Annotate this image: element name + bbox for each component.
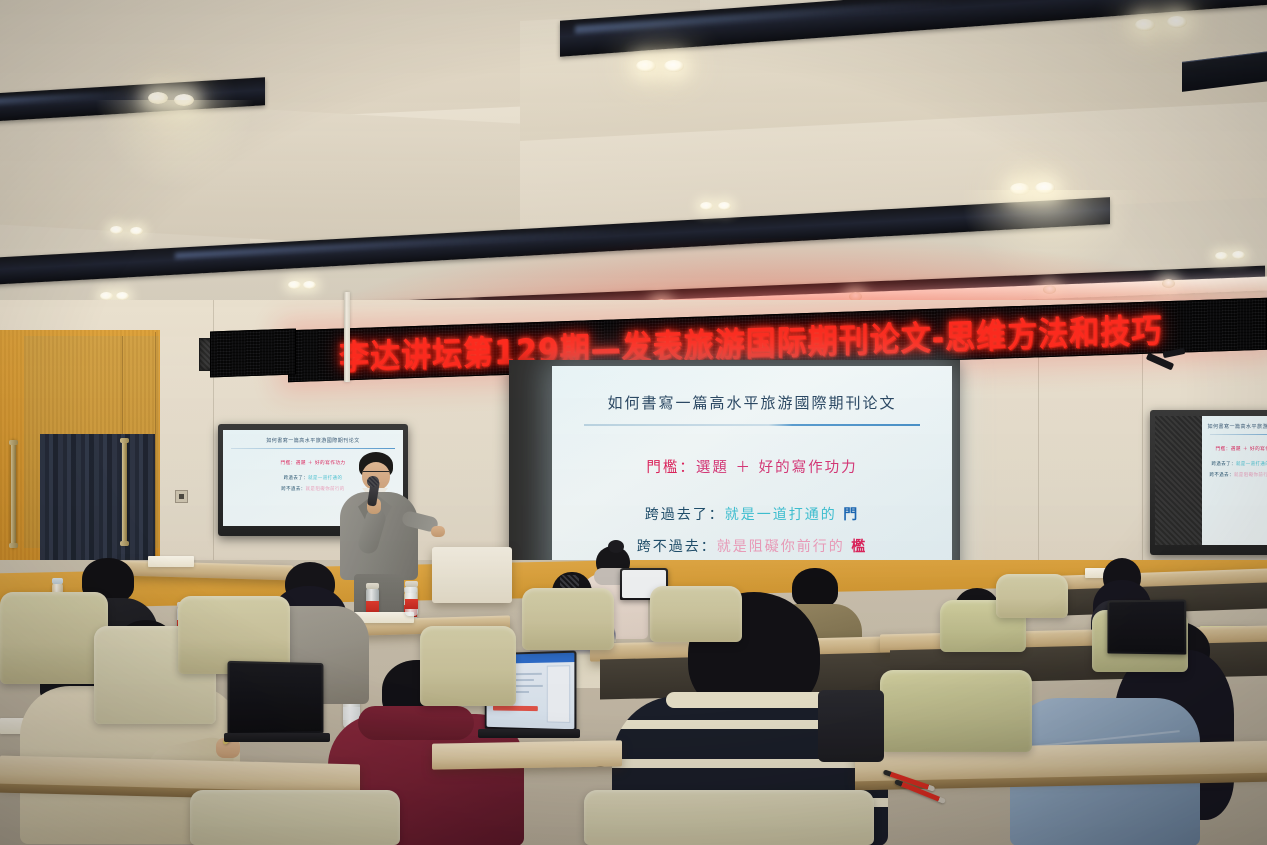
desk — [432, 740, 622, 769]
lecture-hall-photograph: 李达讲坛第129期—发表旅游国际期刊论文-思维方法和技巧 如何書寫一篇高水平旅游… — [0, 0, 1267, 845]
laptop-keyboard-base[interactable] — [478, 729, 580, 738]
ceiling-downlight — [636, 60, 656, 72]
chair[interactable] — [650, 586, 742, 642]
microphone-head — [367, 476, 379, 487]
laptop-screen-content — [1109, 601, 1184, 652]
chair[interactable] — [420, 626, 516, 706]
door-handle[interactable] — [11, 440, 16, 548]
right-wall-monitor[interactable]: 如何書寫一篇高水平旅游國際期刊论文 門檻：選題 ＋ 好的寫作功力 跨過去了：就是… — [1150, 410, 1267, 555]
chair[interactable] — [584, 790, 874, 845]
student-vest-collar — [666, 692, 842, 708]
monitor-line-1-label: 門檻： — [280, 461, 295, 466]
ceiling-downlight — [1010, 183, 1030, 195]
ceiling-downlight — [1035, 182, 1055, 194]
laptop-screen — [1109, 601, 1184, 652]
laptop-sidebar — [547, 665, 571, 723]
monitor-slide-line-2: 跨過去了：就是一道打通的 — [1202, 461, 1267, 467]
slide-line-2-label: 跨過去了： — [645, 507, 725, 523]
ceiling-downlight — [1135, 19, 1155, 31]
ceiling-downlight — [148, 92, 168, 104]
ceiling-downlight — [130, 227, 143, 235]
slide-line-2-highlight: 門 — [843, 507, 859, 523]
monitor-slide-content: 如何書寫一篇高水平旅游國際期刊论文 門檻：選題 ＋ 好的寫作功力 跨過去了：就是… — [1202, 416, 1267, 545]
slide-line-1-label: 門檻： — [646, 460, 696, 476]
chair[interactable] — [190, 790, 400, 845]
chair[interactable] — [522, 588, 614, 650]
student-hood — [358, 706, 474, 740]
ceiling-downlight — [664, 60, 684, 72]
monitor-line-2-body: 就是一道打通的 — [1236, 462, 1267, 467]
monitor-bezel-speaker — [1155, 416, 1202, 545]
monitor-line-3-label: 跨不過去： — [281, 487, 305, 492]
ceiling-downlight — [303, 281, 316, 289]
presenter-glasses — [363, 471, 389, 476]
slide-title: 如何書寫一篇高水平旅游國際期刊论文 — [578, 392, 926, 413]
ceiling — [0, 0, 1267, 340]
presenter-table — [432, 547, 512, 603]
ceiling-downlight — [1215, 252, 1228, 260]
ceiling-downlight — [1162, 279, 1175, 288]
presenter-hand — [431, 526, 445, 537]
laptop-keyboard-base[interactable] — [224, 733, 330, 742]
ceiling-downlight — [116, 292, 129, 300]
strip-reflection — [0, 90, 129, 104]
ceiling-downlight — [1167, 16, 1187, 28]
monitor-slide-line-1: 門檻：選題 ＋ 好的寫作功力 — [1202, 446, 1267, 452]
laptop-screen-content — [230, 663, 322, 733]
hair-clip — [560, 575, 579, 588]
monitor-line-2-label: 跨過去了： — [284, 476, 308, 481]
backpack — [818, 690, 884, 762]
chair[interactable] — [996, 574, 1068, 618]
door-handle[interactable] — [122, 438, 127, 546]
ceiling-downlight — [100, 292, 113, 300]
laptop-highlight-bar — [493, 705, 538, 711]
ceiling-downlight — [174, 94, 194, 106]
water-bottle — [405, 586, 418, 616]
led-banner-unlit-section — [210, 328, 296, 377]
monitor-line-1-body: 選題 ＋ 好的寫作功力 — [1231, 447, 1267, 452]
laptop[interactable] — [227, 661, 323, 735]
ceiling-downlight — [700, 202, 713, 210]
slide-line-1: 門檻：選題 ＋ 好的寫作功力 — [578, 456, 926, 477]
ceiling-support-pole — [344, 292, 350, 382]
monitor-line-2-label: 跨過去了： — [1212, 462, 1236, 467]
wall-switch-plate[interactable] — [175, 490, 188, 503]
monitor-slide-title: 如何書寫一篇高水平旅游國際期刊论文 — [223, 437, 403, 444]
ceiling-downlight — [110, 226, 123, 234]
monitor-slide-divider — [1210, 434, 1267, 435]
laptop[interactable] — [1107, 599, 1186, 654]
ceiling-downlight — [288, 281, 301, 289]
ceiling-downlight — [718, 202, 731, 210]
monitor-slide-title: 如何書寫一篇高水平旅游國際期刊论文 — [1202, 423, 1267, 430]
ceiling-downlight — [1043, 285, 1056, 294]
slide-line-3-body: 就是阻礙你前行的 — [717, 539, 845, 555]
chair[interactable] — [880, 670, 1032, 752]
slide-line-2: 跨過去了：就是一道打通的 門 — [578, 504, 926, 524]
monitor-line-1-label: 門檻： — [1216, 447, 1231, 452]
monitor-screen: 如何書寫一篇高水平旅游國際期刊论文 門檻：選題 ＋ 好的寫作功力 跨過去了：就是… — [1155, 416, 1267, 545]
monitor-line-3-label: 跨不過去： — [1210, 473, 1234, 478]
student-hair-bun — [608, 540, 624, 553]
chair[interactable] — [0, 592, 108, 684]
slide-line-1-body: 選題 ＋ 好的寫作功力 — [696, 460, 858, 476]
slide-line-3-highlight: 檻 — [851, 539, 867, 555]
ceiling-downlight — [1232, 251, 1245, 259]
laptop-screen — [230, 663, 322, 733]
monitor-line-3-body: 就是阻礙你前行的 — [1234, 473, 1267, 478]
slide-divider — [584, 424, 920, 426]
slide-line-2-body: 就是一道打通的 — [725, 507, 837, 523]
monitor-slide-line-3: 跨不過去：就是阻礙你前行的 — [1202, 472, 1267, 478]
monitor-slide-divider — [231, 448, 395, 449]
